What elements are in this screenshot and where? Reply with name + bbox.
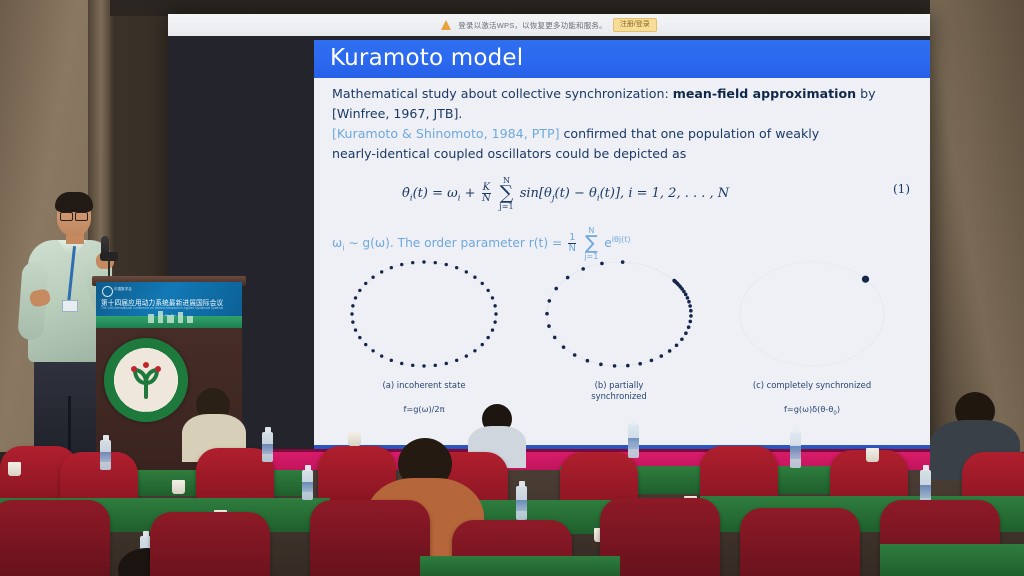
water-bottle-3 — [628, 424, 639, 458]
eq-fraction-k-over-n: K N — [482, 183, 491, 204]
complete-circle-svg — [722, 252, 902, 380]
op-fraction: 1 N — [568, 233, 576, 254]
water-bottle-2 — [302, 470, 313, 500]
body-line-4: nearly-identical coupled oscillators cou… — [332, 144, 916, 164]
banner-org: 中国数学会 — [114, 286, 132, 291]
wps-message: 登录以激活WPS，以恢复更多功能和服务。 — [458, 20, 607, 31]
body-seg-3-tail: confirmed that one population of weakly — [560, 126, 820, 141]
emblem-year: 1952 — [104, 410, 188, 415]
caption-b-line1: (b) partially — [524, 380, 714, 391]
kuramoto-equation: θ̇i(t) = ωi + K N N ∑ j=1 sin[θj(t) − θi… — [402, 176, 729, 211]
conference-logo-icon — [102, 286, 113, 297]
eq-body: sin[θ — [520, 186, 552, 201]
speaker-badge — [62, 300, 78, 312]
projection-screen: 登录以激活WPS，以恢复更多功能和服务。 注册/登录 Kuramoto mode… — [168, 14, 930, 466]
eq-sum-bottom: j=1 — [499, 202, 513, 211]
body-seg-1: Mathematical study about collective sync… — [332, 86, 673, 101]
eq-frac-denominator: N — [482, 193, 491, 204]
water-bottle-6 — [516, 486, 527, 520]
oscillator-figures: (a) incoherent state f=g(ω)/2π (b) parti… — [324, 252, 924, 422]
water-bottle-4 — [790, 432, 801, 468]
university-emblem: 1952 — [104, 338, 188, 422]
eq-omega-sub: i — [458, 194, 461, 204]
water-bottle-0 — [100, 440, 111, 470]
caption-c: (c) completely synchronized — [717, 380, 907, 391]
formula-c: f=g(ω)δ(θ-θ0) — [717, 404, 907, 417]
eq-body-mid: (t) − θ — [555, 186, 597, 201]
paper-cup-2 — [348, 432, 361, 446]
slide-title: Kuramoto model — [330, 45, 523, 71]
slide-body-text: Mathematical study about collective sync… — [332, 84, 916, 164]
glasses-icon — [60, 212, 88, 219]
incoherent-circle-svg — [334, 252, 514, 380]
body-seg-1-tail: by — [856, 86, 875, 101]
emblem-sprout-icon — [123, 357, 169, 403]
table-row-3b — [420, 556, 620, 576]
body-line-1: Mathematical study about collective sync… — [332, 84, 916, 104]
op-equals: = — [552, 236, 562, 250]
water-bottle-1 — [262, 432, 273, 462]
chair-row-b-2[interactable] — [310, 500, 430, 576]
equation-number: (1) — [893, 182, 910, 196]
op-symbol: r(t) — [529, 236, 548, 250]
op-exp-sup3: (t) — [621, 235, 630, 244]
podium-mic-head — [100, 252, 118, 261]
op-sigma-icon: ∑ — [584, 235, 598, 252]
formula-c-pre: f=g(ω)δ(θ-θ — [784, 404, 833, 414]
caption-b-line2: synchronized — [524, 391, 714, 402]
wps-notification-bar: 登录以激活WPS，以恢复更多功能和服务。 注册/登录 — [168, 14, 930, 36]
presentation-slide: Kuramoto model Mathematical study about … — [314, 40, 930, 460]
op-exp-sup: iθ — [612, 235, 619, 244]
paper-cup-1 — [172, 480, 185, 494]
eq-body-end: (t)], — [600, 186, 625, 201]
speaker-hair — [55, 192, 93, 212]
banner-subtitle: The 14th International Conference on Rec… — [101, 306, 223, 310]
formula-c-post: ) — [837, 404, 840, 414]
banner-building-4 — [178, 312, 183, 323]
podium-banner: 中国数学会 第十四届应用动力系统最新进展国际会议 The 14th Intern… — [96, 282, 242, 328]
body-seg-1-bold: mean-field approximation — [673, 86, 856, 101]
op-distribution: ∼ g(ω). — [348, 236, 393, 250]
paper-cup-0 — [8, 462, 21, 476]
partial-circle-svg — [529, 252, 709, 380]
chair-row-b-1[interactable] — [150, 512, 270, 576]
eq-summation: N ∑ j=1 — [499, 176, 513, 211]
eq-omega: ω — [447, 186, 458, 201]
chair-row-b-5[interactable] — [740, 508, 860, 576]
caption-a: (a) incoherent state — [329, 380, 519, 391]
figure-partial — [529, 252, 709, 380]
banner-building-2 — [158, 311, 163, 323]
body-line-3: [Kuramoto & Shinomoto, 1984, PTP] confir… — [332, 124, 916, 144]
equation-row: θ̇i(t) = ωi + K N N ∑ j=1 sin[θj(t) − θi… — [332, 176, 916, 216]
banner-building-1 — [148, 314, 154, 323]
warning-triangle-icon — [441, 20, 452, 30]
chair-row-b-0[interactable] — [0, 500, 110, 576]
eq-plus: + — [465, 186, 476, 201]
op-omega: ω — [332, 236, 342, 250]
op-text: The order parameter — [398, 236, 525, 250]
op-exp: e — [604, 236, 612, 250]
paper-cup-3 — [866, 448, 879, 462]
figure-incoherent — [334, 252, 514, 380]
wps-login-button[interactable]: 注册/登录 — [613, 18, 657, 31]
table-row-3 — [880, 544, 1024, 576]
body-line-2: [Winfree, 1967, JTB]. — [332, 104, 916, 124]
eq-lhs-arg: (t) = — [413, 186, 443, 201]
figure-complete — [722, 252, 902, 380]
banner-building-3 — [167, 315, 174, 323]
sigma-icon: ∑ — [499, 185, 513, 202]
eq-lhs: θ̇ — [402, 186, 410, 201]
eq-index-range: i = 1, 2, . . . , N — [628, 186, 729, 201]
citation-kuramoto: [Kuramoto & Shinomoto, 1984, PTP] — [332, 126, 560, 141]
conference-room-scene: 登录以激活WPS，以恢复更多功能和服务。 注册/登录 Kuramoto mode… — [0, 0, 1024, 576]
banner-building-5 — [187, 316, 193, 323]
